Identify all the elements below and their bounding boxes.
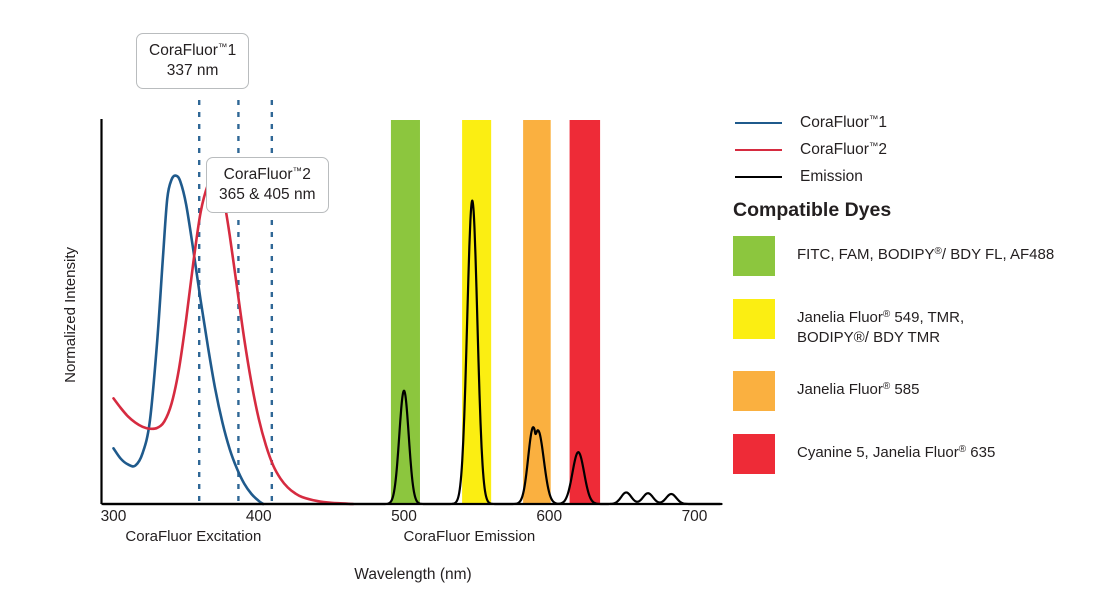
compatible-dyes-heading: Compatible Dyes (733, 199, 891, 222)
legend-line-swatch (735, 176, 782, 178)
dye-label: Janelia Fluor® 549, TMR, BODIPY®/ BDY TM… (797, 299, 964, 348)
callout-corafluor2: CoraFluor™2 365 & 405 nm (206, 157, 329, 213)
compatible-dyes-list: FITC, FAM, BODIPY®/ BDY FL, AF488Janelia… (730, 236, 1110, 497)
legend-label: Emission (800, 168, 863, 186)
callout-cf1-line1: CoraFluor™1 (149, 41, 236, 61)
red-band (570, 120, 601, 504)
curve-legend: CoraFluor™1CoraFluor™2Emission (730, 109, 1110, 190)
dye-label: FITC, FAM, BODIPY®/ BDY FL, AF488 (797, 236, 1054, 265)
x-tick-400: 400 (246, 508, 272, 526)
callout-cf2-line2: 365 & 405 nm (219, 185, 316, 205)
x-tick-500: 500 (391, 508, 417, 526)
legend-row-0[interactable]: CoraFluor™1 (730, 109, 1110, 136)
callout-corafluor1: CoraFluor™1 337 nm (136, 33, 249, 89)
legend-line-swatch (735, 149, 782, 151)
dye-row-2[interactable]: Janelia Fluor® 585 (730, 371, 1110, 411)
dye-color-swatch (733, 371, 775, 411)
dye-label: Janelia Fluor® 585 (797, 371, 919, 400)
chart-root: CoraFluor™1 337 nm CoraFluor™2 365 & 405… (0, 0, 1110, 612)
legend-row-2[interactable]: Emission (730, 163, 1110, 190)
x-tick-700: 700 (682, 508, 708, 526)
x-tick-300: 300 (101, 508, 127, 526)
legend-label: CoraFluor™2 (800, 141, 887, 159)
callout-cf2-line1: CoraFluor™2 (219, 165, 316, 185)
dye-row-1[interactable]: Janelia Fluor® 549, TMR, BODIPY®/ BDY TM… (730, 299, 1110, 348)
x-axis-title: Wavelength (nm) (354, 566, 471, 584)
series-corafluor2 (114, 179, 354, 504)
legend-row-1[interactable]: CoraFluor™2 (730, 136, 1110, 163)
orange-band (523, 120, 551, 504)
side-panel: CoraFluor™1CoraFluor™2Emission Compatibl… (730, 0, 1110, 612)
legend-label: CoraFluor™1 (800, 114, 887, 132)
legend-line-swatch (735, 122, 782, 124)
dye-color-swatch (733, 236, 775, 276)
green-band (391, 120, 420, 504)
series-corafluor1 (114, 176, 264, 504)
dye-row-0[interactable]: FITC, FAM, BODIPY®/ BDY FL, AF488 (730, 236, 1110, 276)
plot-area: CoraFluor™1 337 nm CoraFluor™2 365 & 405… (0, 0, 740, 612)
dye-row-3[interactable]: Cyanine 5, Janelia Fluor® 635 (730, 434, 1110, 474)
dye-label: Cyanine 5, Janelia Fluor® 635 (797, 434, 995, 463)
x-axis-sublabel-emission: CoraFluor Emission (404, 528, 536, 545)
dye-color-swatch (733, 434, 775, 474)
y-axis-title: Normalized Intensity (62, 247, 79, 383)
dye-color-swatch (733, 299, 775, 339)
x-axis-sublabel-excitation: CoraFluor Excitation (125, 528, 261, 545)
callout-cf1-line2: 337 nm (149, 61, 236, 81)
x-tick-600: 600 (536, 508, 562, 526)
